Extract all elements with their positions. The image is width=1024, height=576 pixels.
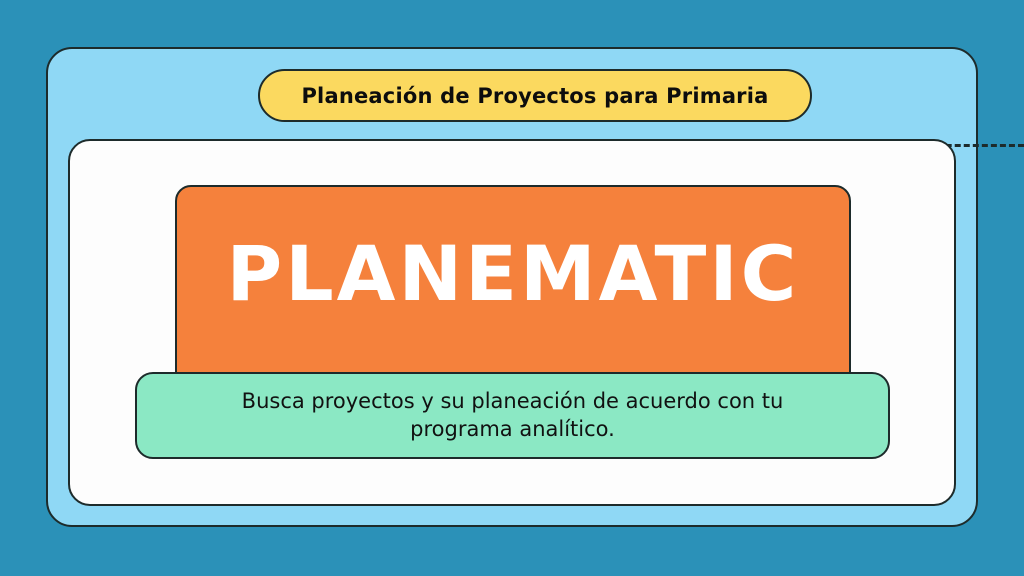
- slide-canvas: Planeación de Proyectos para Primaria PL…: [0, 0, 1024, 576]
- brand-logo-text: PLANEMATIC: [227, 236, 800, 312]
- page-title: Planeación de Proyectos para Primaria: [301, 84, 768, 108]
- brand-logo-block: PLANEMATIC: [175, 185, 851, 400]
- tagline-block: Busca proyectos y su planeación de acuer…: [135, 372, 890, 459]
- tagline-text: Busca proyectos y su planeación de acuer…: [193, 388, 833, 443]
- title-badge: Planeación de Proyectos para Primaria: [258, 69, 812, 122]
